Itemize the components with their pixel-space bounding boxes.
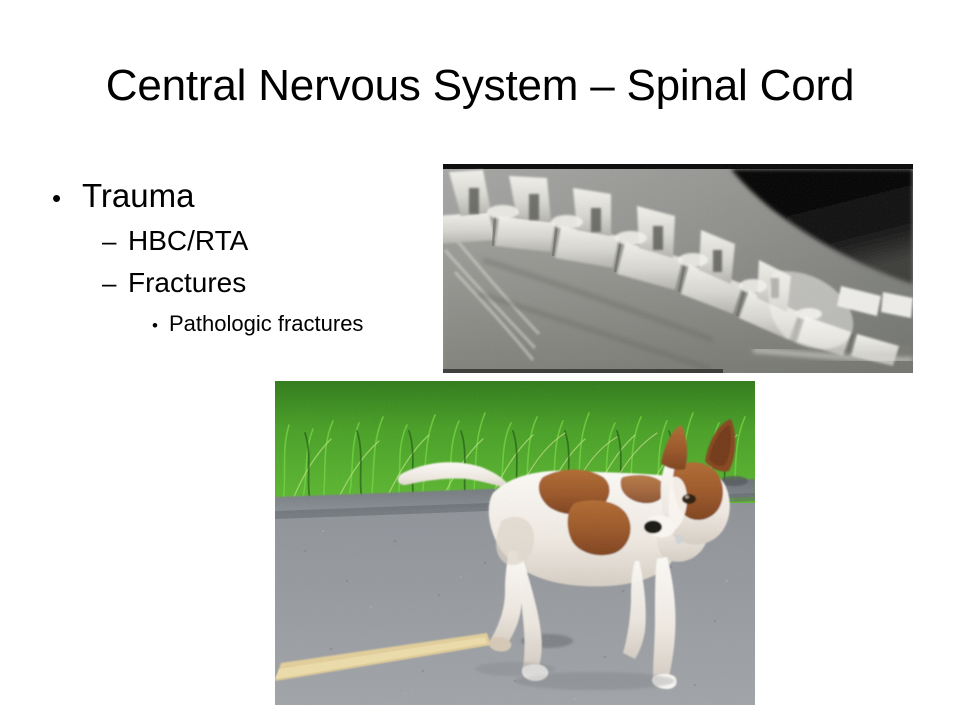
bullet-marker-icon: • xyxy=(52,179,82,217)
spine-xray-image xyxy=(443,164,913,373)
list-item: – HBC/RTA xyxy=(102,223,452,259)
list-item-label: HBC/RTA xyxy=(128,223,248,259)
bullet-list: • Trauma – HBC/RTA – Fractures • Patholo… xyxy=(52,176,452,340)
spine-xray-graphic xyxy=(443,164,913,373)
list-item-label: Fractures xyxy=(128,265,246,301)
list-item: • Pathologic fractures xyxy=(152,309,452,340)
dash-marker-icon: – xyxy=(102,224,128,258)
list-item-label: Pathologic fractures xyxy=(169,309,363,339)
list-item: • Trauma xyxy=(52,176,452,217)
slide-canvas: Central Nervous System – Spinal Cord • T… xyxy=(0,0,960,720)
list-item: – Fractures xyxy=(102,265,452,301)
dog-photo-graphic xyxy=(275,381,755,705)
page-title: Central Nervous System – Spinal Cord xyxy=(0,60,960,112)
bullet-marker-icon: • xyxy=(152,312,169,340)
dog-on-road-photo xyxy=(275,381,755,705)
dash-marker-icon: – xyxy=(102,266,128,300)
list-item-label: Trauma xyxy=(82,176,194,216)
